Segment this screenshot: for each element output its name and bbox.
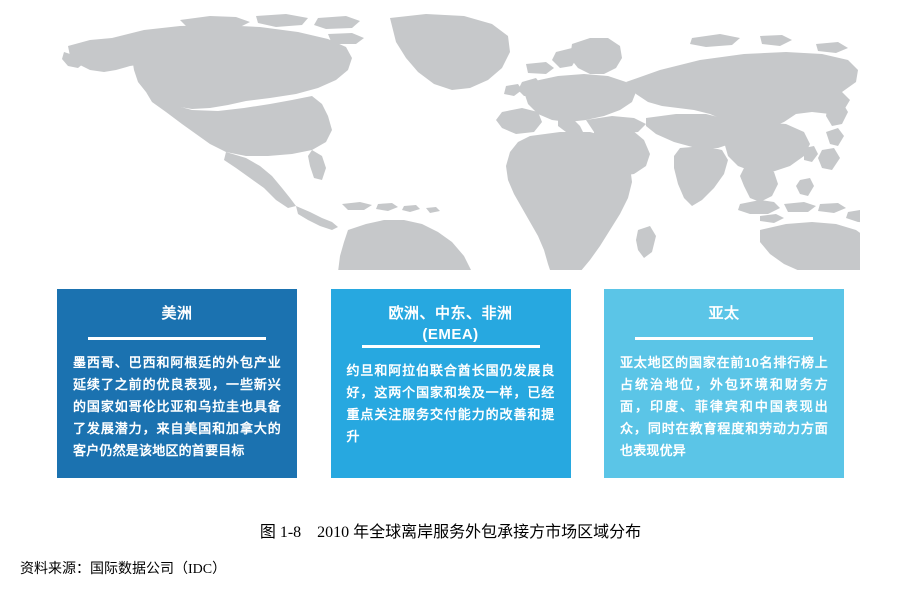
region-panel-americas[interactable]: 美洲 墨西哥、巴西和阿根廷的外包产业延续了之前的优良表现，一些新兴的国家如哥伦比… — [57, 289, 297, 478]
panel-body-apac: 亚太地区的国家在前10名排行榜上占统治地位，外包环境和财务方面，印度、菲律宾和中… — [604, 340, 844, 462]
world-map — [60, 8, 860, 270]
panel-body-emea: 约旦和阿拉伯联合酋长国仍发展良好，这两个国家和埃及一样，已经重点关注服务交付能力… — [331, 348, 571, 448]
region-panel-emea[interactable]: 欧洲、中东、非洲 (EMEA) 约旦和阿拉伯联合酋长国仍发展良好，这两个国家和埃… — [331, 289, 571, 478]
panel-title-emea: 欧洲、中东、非洲 (EMEA) — [331, 289, 571, 345]
region-panels: 美洲 墨西哥、巴西和阿根廷的外包产业延续了之前的优良表现，一些新兴的国家如哥伦比… — [57, 289, 844, 478]
world-map-landmasses — [62, 14, 860, 270]
panel-title-apac: 亚太 — [604, 289, 844, 325]
figure-caption-text: 2010 年全球离岸服务外包承接方市场区域分布 — [317, 524, 641, 541]
figure-container: 美洲 墨西哥、巴西和阿根廷的外包产业延续了之前的优良表现，一些新兴的国家如哥伦比… — [0, 0, 901, 596]
region-panel-apac[interactable]: 亚太 亚太地区的国家在前10名排行榜上占统治地位，外包环境和财务方面，印度、菲律… — [604, 289, 844, 478]
figure-source: 资料来源：国际数据公司（IDC） — [20, 558, 226, 578]
figure-caption: 图 1-82010 年全球离岸服务外包承接方市场区域分布 — [0, 518, 901, 542]
figure-number: 图 1-8 — [260, 524, 301, 541]
panel-title-americas: 美洲 — [57, 289, 297, 325]
panel-body-americas: 墨西哥、巴西和阿根廷的外包产业延续了之前的优良表现，一些新兴的国家如哥伦比亚和乌… — [57, 340, 297, 462]
